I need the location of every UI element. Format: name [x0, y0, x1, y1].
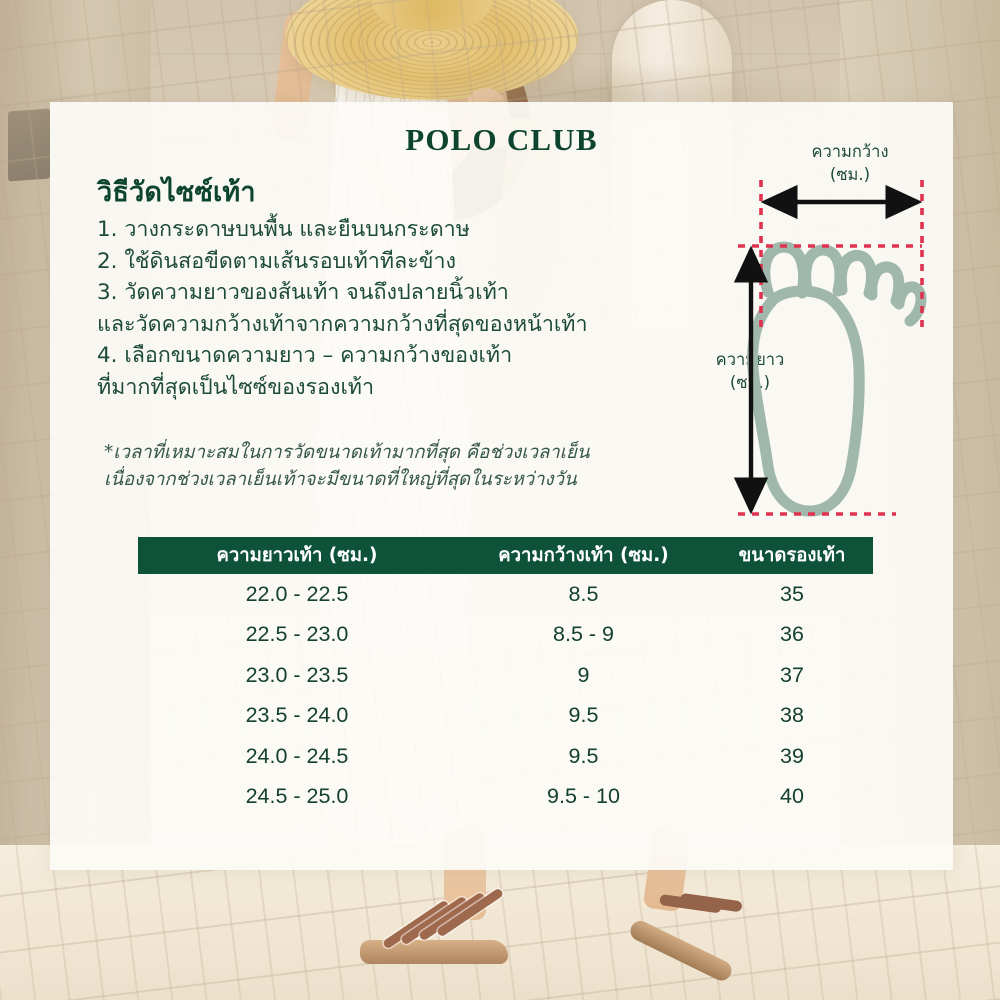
cell-length: 23.5 - 24.0: [138, 703, 456, 728]
step-line: 2. ใช้ดินสอขีดตามเส้นรอบเท้าทีละข้าง: [97, 246, 697, 278]
table-row: 23.5 - 24.0 9.5 38: [138, 696, 873, 737]
measure-steps-list: 1. วางกระดาษบนพื้น และยืนบนกระดาษ 2. ใช้…: [97, 214, 697, 403]
column-header-length: ความยาวเท้า (ซม.): [138, 541, 456, 570]
note-line: *เวลาที่เหมาะสมในการวัดขนาดเท้ามากที่สุด…: [104, 439, 724, 466]
cell-size: 40: [711, 784, 873, 809]
table-header-row: ความยาวเท้า (ซม.) ความกว้างเท้า (ซม.) ขน…: [138, 537, 873, 574]
cell-width: 9.5 - 10: [456, 784, 711, 809]
cell-length: 22.0 - 22.5: [138, 582, 456, 607]
sandal-left: [360, 890, 508, 968]
size-chart-table: ความยาวเท้า (ซม.) ความกว้างเท้า (ซม.) ขน…: [138, 537, 873, 817]
cell-size: 36: [711, 622, 873, 647]
table-row: 24.5 - 25.0 9.5 - 10 40: [138, 777, 873, 818]
cell-size: 35: [711, 582, 873, 607]
cell-width: 8.5: [456, 582, 711, 607]
cell-length: 22.5 - 23.0: [138, 622, 456, 647]
cell-width: 9: [456, 663, 711, 688]
cell-size: 38: [711, 703, 873, 728]
cell-length: 24.0 - 24.5: [138, 744, 456, 769]
column-header-width: ความกว้างเท้า (ซม.): [456, 541, 711, 570]
cell-length: 24.5 - 25.0: [138, 784, 456, 809]
step-line: 4. เลือกขนาดความยาว – ความกว้างของเท้า: [97, 340, 697, 372]
table-row: 23.0 - 23.5 9 37: [138, 655, 873, 696]
foot-measurement-diagram: ความกว้าง (ซม.) ความยาว (ซม.): [650, 132, 950, 542]
step-line: 1. วางกระดาษบนพื้น และยืนบนกระดาษ: [97, 214, 697, 246]
step-line: และวัดความกว้างเท้าจากความกว้างที่สุดของ…: [97, 309, 697, 341]
foot-outline-icon: [753, 247, 921, 511]
cell-size: 39: [711, 744, 873, 769]
cell-width: 9.5: [456, 703, 711, 728]
size-guide-card: POLO CLUB วิธีวัดไซซ์เท้า 1. วางกระดาษบน…: [50, 102, 953, 870]
measure-time-note: *เวลาที่เหมาะสมในการวัดขนาดเท้ามากที่สุด…: [104, 439, 724, 493]
how-to-measure-heading: วิธีวัดไซซ์เท้า: [97, 170, 256, 213]
cell-size: 37: [711, 663, 873, 688]
table-row: 24.0 - 24.5 9.5 39: [138, 736, 873, 777]
cell-length: 23.0 - 23.5: [138, 663, 456, 688]
column-header-size: ขนาดรองเท้า: [711, 541, 873, 570]
cell-width: 8.5 - 9: [456, 622, 711, 647]
sandal-left-sole: [360, 940, 508, 964]
table-row: 22.5 - 23.0 8.5 - 9 36: [138, 615, 873, 656]
table-row: 22.0 - 22.5 8.5 35: [138, 574, 873, 615]
step-line: 3. วัดความยาวของส้นเท้า จนถึงปลายนิ้วเท้…: [97, 277, 697, 309]
foot-diagram-svg: [650, 132, 950, 542]
note-line: เนื่องจากช่วงเวลาเย็นเท้าจะมีขนาดที่ใหญ่…: [104, 466, 724, 493]
cell-width: 9.5: [456, 744, 711, 769]
step-line: ที่มากที่สุดเป็นไซซ์ของรองเท้า: [97, 372, 697, 404]
